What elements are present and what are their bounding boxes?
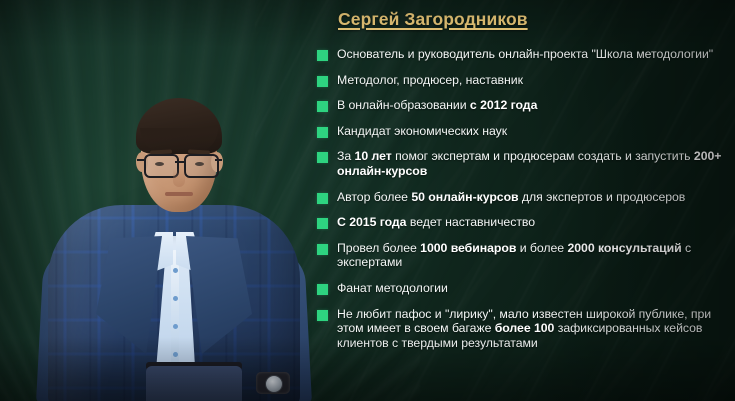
vignette-overlay: [0, 0, 735, 401]
speaker-bio-slide: Сергей Загородников Основатель и руковод…: [0, 0, 735, 401]
